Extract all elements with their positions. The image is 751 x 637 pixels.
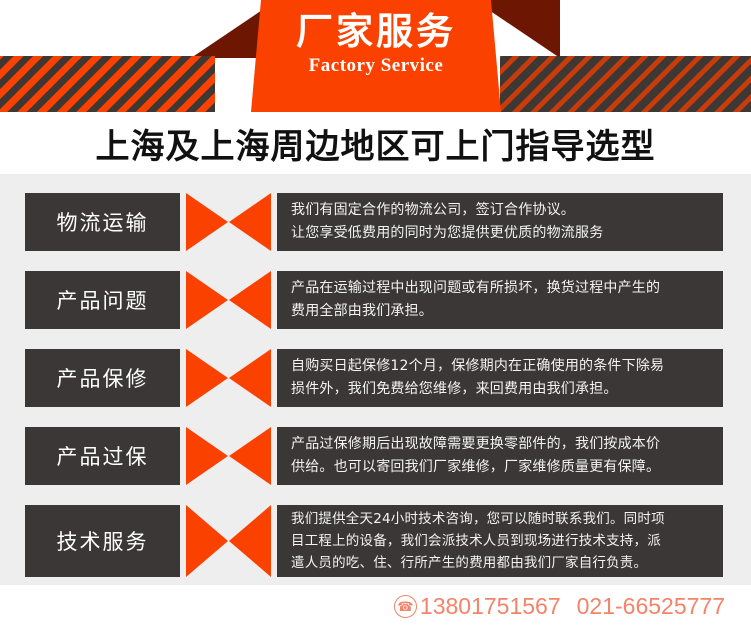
header-banner-area: 厂家服务 Factory Service [0, 0, 751, 112]
service-description-cell: 我们有固定合作的物流公司，签订合作协议。让您享受低费用的同时为您提供更优质的物流… [277, 193, 723, 251]
service-label-text: 产品问题 [57, 285, 149, 315]
left-stripe-band [0, 56, 215, 112]
service-label-text: 产品过保 [57, 441, 149, 471]
mobile-number[interactable]: 13801751567 [420, 593, 561, 620]
bowtie-right-triangle [229, 271, 271, 329]
service-description-line: 费用全部由我们承担。 [291, 300, 723, 323]
service-row: 技术服务我们提供全天24小时技术咨询，您可以随时联系我们。同时项目工程上的设备，… [25, 505, 723, 577]
banner-trapezoid: 厂家服务 Factory Service [251, 0, 501, 112]
service-description-cell: 我们提供全天24小时技术咨询，您可以随时联系我们。同时项目工程上的设备，我们会派… [277, 505, 723, 577]
service-row: 产品过保产品过保修期后出现故障需要更换零部件的，我们按成本价供给。也可以寄回我们… [25, 427, 723, 485]
service-description-line: 我们提供全天24小时技术咨询，您可以随时联系我们。同时项 [291, 508, 723, 530]
bowtie-divider-icon [180, 427, 277, 485]
bowtie-left-triangle [186, 193, 228, 251]
service-label-cell: 物流运输 [25, 193, 180, 251]
page-title: 上海及上海周边地区可上门指导选型 [96, 119, 656, 168]
service-description-cell: 产品过保修期后出现故障需要更换零部件的，我们按成本价供给。也可以寄回我们厂家维修… [277, 427, 723, 485]
service-label-cell: 产品问题 [25, 271, 180, 329]
service-label-cell: 产品保修 [25, 349, 180, 407]
service-description-line: 遣人员的吃、住、行所产生的费用都由我们厂家自行负责。 [291, 552, 723, 574]
phone-icon: ☎ [394, 595, 417, 618]
service-description-line: 自购买日起保修12个月，保修期内在正确使用的条件下除易 [291, 355, 723, 378]
banner-title-en: Factory Service [251, 55, 501, 77]
bowtie-right-triangle [229, 349, 271, 407]
bowtie-left-triangle [186, 349, 228, 407]
bowtie-right-triangle [229, 505, 271, 577]
service-description-line: 产品过保修期后出现故障需要更换零部件的，我们按成本价 [291, 433, 723, 456]
service-label-text: 物流运输 [57, 207, 149, 237]
bowtie-left-triangle [186, 505, 228, 577]
service-label-cell: 技术服务 [25, 505, 180, 577]
service-description-line: 供给。也可以寄回我们厂家维修，厂家维修质量更有保障。 [291, 456, 723, 479]
service-description-line: 让您享受低费用的同时为您提供更优质的物流服务 [291, 222, 723, 245]
service-list-panel: 物流运输我们有固定合作的物流公司，签订合作协议。让您享受低费用的同时为您提供更优… [0, 174, 751, 585]
page-title-bar: 上海及上海周边地区可上门指导选型 [0, 112, 751, 174]
service-description-line: 我们有固定合作的物流公司，签订合作协议。 [291, 199, 723, 222]
service-row: 产品保修自购买日起保修12个月，保修期内在正确使用的条件下除易损件外，我们免费给… [25, 349, 723, 407]
service-description-line: 产品在运输过程中出现问题或有所损坏，换货过程中产生的 [291, 277, 723, 300]
landline-number[interactable]: 021-66525777 [577, 593, 725, 620]
bowtie-right-triangle [229, 427, 271, 485]
factory-service-infographic: 厂家服务 Factory Service 上海及上海周边地区可上门指导选型 物流… [0, 0, 751, 637]
banner-title-cn: 厂家服务 [251, 12, 501, 53]
bowtie-divider-icon [180, 193, 277, 251]
service-row: 产品问题产品在运输过程中出现问题或有所损坏，换货过程中产生的费用全部由我们承担。 [25, 271, 723, 329]
bowtie-divider-icon [180, 271, 277, 329]
bowtie-left-triangle [186, 427, 228, 485]
phone-line: ☎ 13801751567 021-66525777 [394, 593, 725, 620]
bowtie-left-triangle [186, 271, 228, 329]
bowtie-divider-icon [180, 349, 277, 407]
service-description-line: 损件外，我们免费给您维修，来回费用由我们承担。 [291, 378, 723, 401]
service-description-line: 目工程上的设备，我们会派技术人员到现场进行技术支持，派 [291, 530, 723, 552]
service-row: 物流运输我们有固定合作的物流公司，签订合作协议。让您享受低费用的同时为您提供更优… [25, 193, 723, 251]
right-stripe-band [500, 56, 751, 112]
service-label-cell: 产品过保 [25, 427, 180, 485]
bowtie-divider-icon [180, 505, 277, 577]
bowtie-right-triangle [229, 193, 271, 251]
service-description-cell: 自购买日起保修12个月，保修期内在正确使用的条件下除易损件外，我们免费给您维修，… [277, 349, 723, 407]
service-label-text: 技术服务 [57, 526, 149, 556]
service-description-cell: 产品在运输过程中出现问题或有所损坏，换货过程中产生的费用全部由我们承担。 [277, 271, 723, 329]
service-label-text: 产品保修 [57, 363, 149, 393]
footer-contact-bar: ☎ 13801751567 021-66525777 [0, 585, 751, 637]
